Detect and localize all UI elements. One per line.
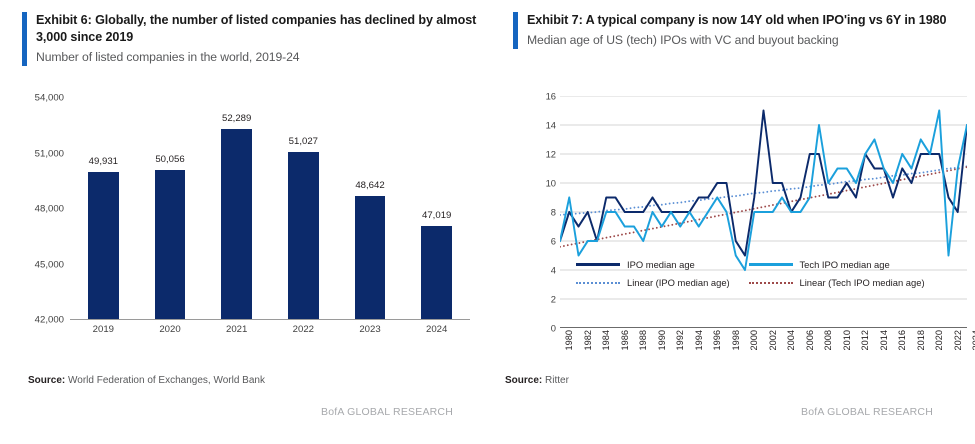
legend-label: Tech IPO median age: [800, 259, 890, 270]
legend-label: Linear (IPO median age): [627, 277, 730, 288]
line-chart-x-tick: 1986: [620, 330, 630, 350]
bar-chart-bar[interactable]: [355, 196, 386, 319]
legend-label: IPO median age: [627, 259, 695, 270]
bar-chart-bar[interactable]: [88, 172, 119, 319]
legend-swatch-icon: [749, 263, 793, 266]
legend-swatch-icon: [749, 282, 793, 284]
bar-chart-y-tick: 54,000: [35, 93, 64, 104]
exhibit-6-panel: Exhibit 6: Globally, the number of liste…: [0, 0, 495, 444]
legend-item[interactable]: Linear (Tech IPO median age): [749, 277, 922, 288]
bar-chart-bar-group[interactable]: 52,289: [203, 98, 270, 319]
line-chart-x-tick: 2010: [842, 330, 852, 350]
bar-chart-x-axis: 201920202021202220232024: [70, 324, 470, 335]
bar-chart-bar-group[interactable]: 48,642: [337, 98, 404, 319]
line-chart-x-tick: 2012: [860, 330, 870, 350]
accent-bar: [22, 12, 27, 66]
line-chart-x-axis: 1980198219841986198819901992199419961998…: [560, 330, 967, 366]
line-chart-y-tick: 8: [551, 207, 556, 218]
line-chart-x-tick: 1980: [564, 330, 574, 350]
line-chart-x-tick: 1984: [601, 330, 611, 350]
bar-chart-bar-group[interactable]: 50,056: [137, 98, 204, 319]
exhibit-7-subtitle: Median age of US (tech) IPOs with VC and…: [527, 32, 961, 49]
exhibit-6-subtitle: Number of listed companies in the world,…: [36, 49, 495, 66]
line-chart-x-tick: 2008: [823, 330, 833, 350]
exhibit-7-brand: BofA GLOBAL RESEARCH: [801, 406, 933, 418]
line-chart-x-tick: 2002: [768, 330, 778, 350]
line-chart-y-axis: 0246810121416: [530, 96, 558, 328]
exhibit-7-line-chart: 0246810121416 IPO median ageTech IPO med…: [530, 96, 975, 366]
exhibit-6-header: Exhibit 6: Globally, the number of liste…: [22, 12, 495, 66]
bar-chart-value-label: 50,056: [155, 154, 184, 165]
exhibit-7-panel: Exhibit 7: A typical company is now 14Y …: [495, 0, 975, 444]
bar-chart-bar[interactable]: [221, 129, 252, 319]
bar-chart-value-label: 51,027: [289, 136, 318, 147]
bar-chart-y-tick: 51,000: [35, 148, 64, 159]
bar-chart-bar[interactable]: [155, 170, 186, 319]
line-chart-legend: IPO median ageTech IPO median ageLinear …: [576, 259, 921, 295]
bar-chart-value-label: 52,289: [222, 113, 251, 124]
source-label: Source:: [28, 375, 65, 386]
exhibit-6-title: Exhibit 6: Globally, the number of liste…: [36, 12, 495, 46]
accent-bar: [513, 12, 518, 49]
legend-swatch-icon: [576, 282, 620, 284]
bar-chart-value-label: 49,931: [89, 156, 118, 167]
line-chart-x-tick: 2022: [953, 330, 963, 350]
line-chart-x-tick: 1982: [583, 330, 593, 350]
line-chart-x-tick: 2020: [934, 330, 944, 350]
line-chart-y-tick: 12: [546, 149, 556, 160]
bar-chart-x-tick: 2023: [337, 324, 404, 335]
line-chart-x-tick: 2016: [897, 330, 907, 350]
bar-chart-x-tick: 2022: [270, 324, 337, 335]
bar-chart-value-label: 47,019: [422, 210, 451, 221]
line-chart-y-tick: 10: [546, 178, 556, 189]
bar-chart-bar-group[interactable]: 51,027: [270, 98, 337, 319]
line-chart-series: [560, 111, 967, 271]
exhibit-6-brand: BofA GLOBAL RESEARCH: [321, 406, 453, 418]
legend-label: Linear (Tech IPO median age): [800, 277, 925, 288]
bar-chart-y-tick: 45,000: [35, 259, 64, 270]
exhibit-6-bar-chart: 42,00045,00048,00051,00054,000 49,93150,…: [22, 98, 474, 343]
legend-item[interactable]: IPO median age: [576, 259, 749, 270]
line-chart-y-tick: 6: [551, 236, 556, 247]
line-chart-x-tick: 1996: [712, 330, 722, 350]
source-text: Ritter: [545, 375, 569, 386]
bar-chart-bar[interactable]: [288, 152, 319, 319]
line-chart-y-tick: 16: [546, 91, 556, 102]
bar-chart-x-tick: 2024: [403, 324, 470, 335]
line-chart-y-tick: 4: [551, 265, 556, 276]
bar-chart-x-tick: 2019: [70, 324, 137, 335]
legend-item[interactable]: Linear (IPO median age): [576, 277, 749, 288]
bar-chart-plot-area: 49,93150,05652,28951,02748,64247,019: [70, 98, 470, 320]
line-chart-x-tick: 1994: [694, 330, 704, 350]
legend-item[interactable]: Tech IPO median age: [749, 259, 922, 270]
bar-chart-y-tick: 42,000: [35, 315, 64, 326]
source-label: Source:: [505, 375, 542, 386]
exhibits-page: Exhibit 6: Globally, the number of liste…: [0, 0, 975, 444]
legend-swatch-icon: [576, 263, 620, 266]
line-chart-y-tick: 0: [551, 323, 556, 334]
bar-chart-y-tick: 48,000: [35, 204, 64, 215]
line-chart-x-tick: 2024: [971, 330, 975, 350]
line-chart-y-tick: 2: [551, 294, 556, 305]
bar-chart-x-tick: 2021: [203, 324, 270, 335]
line-chart-x-tick: 2014: [879, 330, 889, 350]
exhibit-7-header: Exhibit 7: A typical company is now 14Y …: [513, 12, 961, 49]
exhibit-7-source: Source: Ritter: [505, 375, 569, 386]
bar-chart-value-label: 48,642: [355, 180, 384, 191]
line-chart-x-tick: 2006: [805, 330, 815, 350]
line-chart-x-tick: 1992: [675, 330, 685, 350]
line-chart-x-tick: 2004: [786, 330, 796, 350]
bar-chart-bar-group[interactable]: 47,019: [403, 98, 470, 319]
line-chart-x-tick: 2000: [749, 330, 759, 350]
exhibit-7-title: Exhibit 7: A typical company is now 14Y …: [527, 12, 961, 29]
bar-chart-bar[interactable]: [421, 226, 452, 319]
line-chart-x-tick: 1988: [638, 330, 648, 350]
bar-chart-x-tick: 2020: [137, 324, 204, 335]
line-chart-x-tick: 1998: [731, 330, 741, 350]
bar-chart-y-axis: 42,00045,00048,00051,00054,000: [22, 98, 68, 320]
line-chart-y-tick: 14: [546, 120, 556, 131]
bar-chart-bar-group[interactable]: 49,931: [70, 98, 137, 319]
exhibit-6-source: Source: World Federation of Exchanges, W…: [28, 375, 265, 386]
line-chart-x-tick: 1990: [657, 330, 667, 350]
line-chart-x-tick: 2018: [916, 330, 926, 350]
source-text: World Federation of Exchanges, World Ban…: [68, 375, 265, 386]
